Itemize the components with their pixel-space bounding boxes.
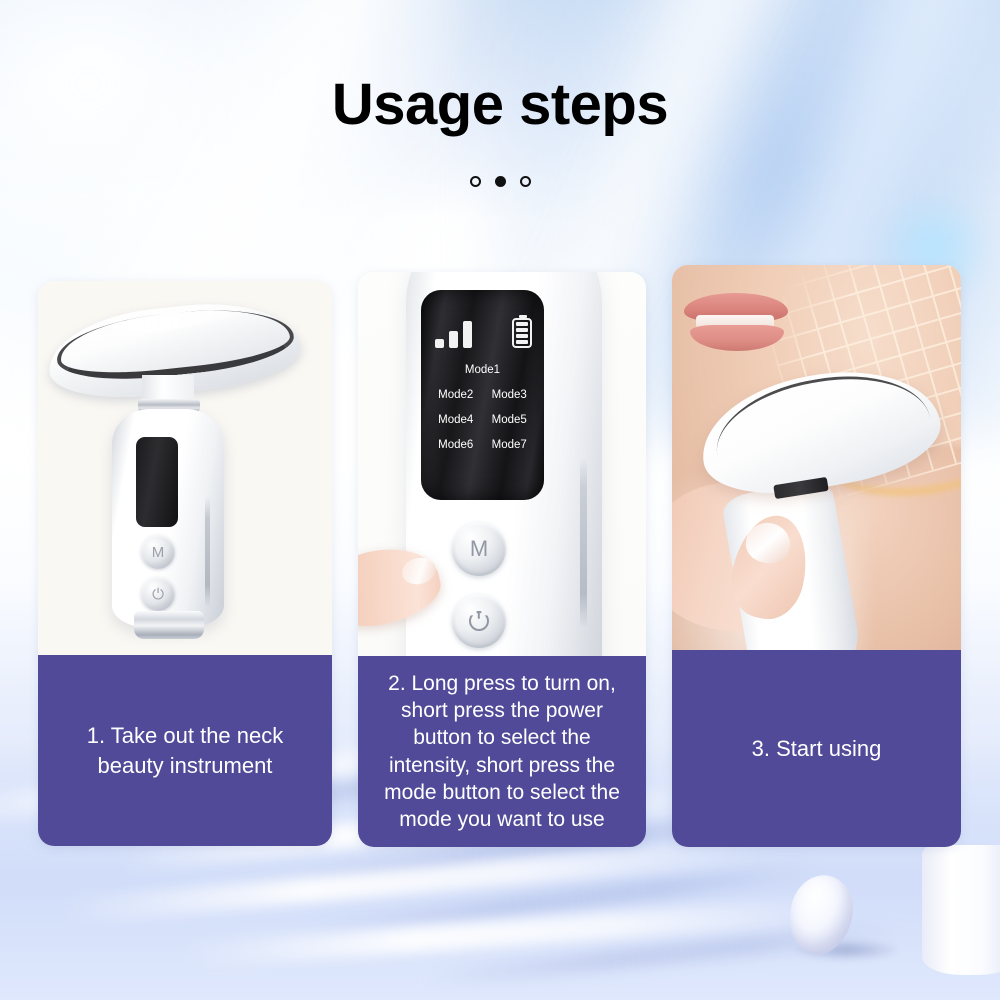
page-root: Usage steps M [0, 0, 1000, 1000]
power-icon [469, 611, 489, 631]
display-mode-row: Mode6 Mode7 [429, 439, 536, 451]
device-closeup: Mode1 Mode2 Mode3 Mode4 Mode5 [358, 272, 646, 656]
pagination-dot-3[interactable] [520, 176, 531, 187]
display-mode-row: Mode2 Mode3 [429, 389, 536, 401]
model-lips [684, 293, 788, 351]
intensity-bar-1 [435, 339, 444, 348]
device-head-rim [707, 361, 936, 493]
device-base [134, 611, 204, 639]
step-2-photo: Mode1 Mode2 Mode3 Mode4 Mode5 [358, 272, 646, 656]
page-title: Usage steps [0, 76, 1000, 134]
step-3-photo [672, 265, 961, 650]
pagination-dots[interactable] [0, 176, 1000, 187]
step-3-caption-text: 3. Start using [752, 734, 882, 763]
device-power-button[interactable]: ⏻ [141, 577, 175, 611]
display-mode-label: Mode5 [492, 414, 527, 426]
battery-segment [516, 328, 528, 332]
display-mode-label: Mode7 [492, 439, 527, 451]
display-mode-row: Mode1 [429, 364, 536, 376]
pagination-dot-2-active[interactable] [495, 176, 506, 187]
device-mode-button[interactable]: M [141, 535, 175, 569]
intensity-bar-2 [449, 331, 458, 348]
display-mode-label: Mode4 [438, 414, 473, 426]
battery-segment [516, 322, 528, 326]
step-1-photo: M ⏻ [38, 281, 332, 655]
step-2-caption: 2. Long press to turn on, short press th… [358, 656, 646, 847]
battery-segment [516, 334, 528, 338]
display-mode-label: Mode3 [492, 389, 527, 401]
intensity-bars-icon [435, 321, 472, 348]
device-power-button[interactable] [452, 594, 506, 648]
display-status-icons [435, 318, 534, 348]
step-3-caption: 3. Start using [672, 650, 961, 847]
step-1-caption: 1. Take out the neck beauty instrument [38, 655, 332, 846]
battery-segment [516, 340, 528, 344]
neck-beauty-device-full: M ⏻ [46, 289, 324, 649]
display-mode-label: Mode2 [438, 389, 473, 401]
device-mode-button[interactable]: M [452, 522, 506, 576]
power-icon: ⏻ [152, 586, 164, 603]
step-card-2[interactable]: Mode1 Mode2 Mode3 Mode4 Mode5 [358, 272, 646, 847]
lower-lip [690, 325, 784, 351]
display-mode-label: Mode6 [438, 439, 473, 451]
mode-button-label: M [470, 536, 488, 562]
device-side-seam [205, 497, 210, 607]
display-mode-label: Mode1 [465, 364, 500, 376]
intensity-bar-3 [463, 321, 472, 348]
device-in-use [700, 375, 950, 650]
mode-button-label: M [152, 544, 165, 561]
display-mode-list: Mode1 Mode2 Mode3 Mode4 Mode5 [421, 364, 544, 464]
step-1-caption-text: 1. Take out the neck beauty instrument [87, 721, 284, 779]
device-display-screen: Mode1 Mode2 Mode3 Mode4 Mode5 [421, 290, 544, 500]
step-card-3[interactable]: 3. Start using [672, 265, 961, 847]
pagination-dot-1[interactable] [470, 176, 481, 187]
step-card-1[interactable]: M ⏻ 1. Take out the neck beauty instrume… [38, 281, 332, 846]
battery-icon [512, 318, 532, 348]
step-2-caption-text: 2. Long press to turn on, short press th… [384, 670, 620, 834]
display-mode-row: Mode4 Mode5 [429, 414, 536, 426]
header: Usage steps [0, 0, 1000, 187]
device-side-seam [580, 458, 587, 628]
device-screen [136, 437, 178, 527]
